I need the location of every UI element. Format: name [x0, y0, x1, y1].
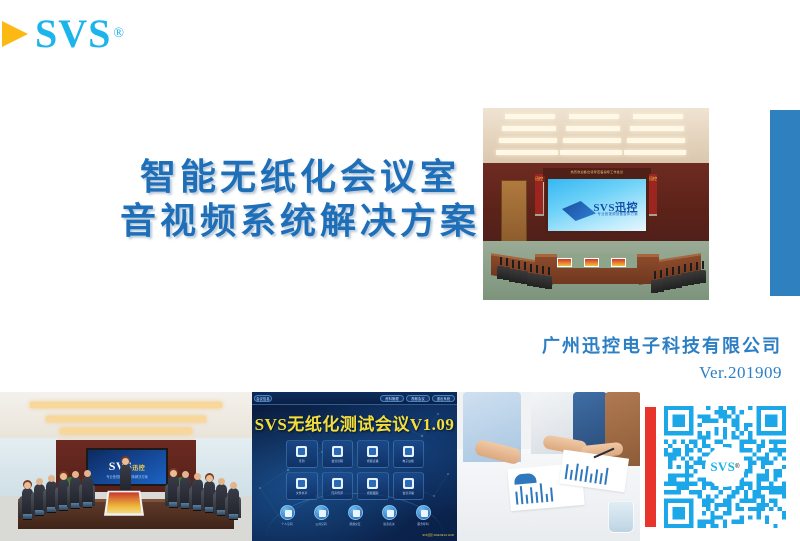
table-document	[584, 258, 599, 267]
microphone	[702, 261, 704, 269]
version-label: Ver.201909	[699, 363, 782, 383]
microphone	[672, 267, 674, 275]
software-topbar: 会议信息资料管理视频会议退出系统	[252, 392, 457, 405]
attendee	[82, 476, 93, 502]
camera-icon	[367, 478, 378, 489]
software-title: SVS无纸化测试会议V1.09	[252, 410, 457, 435]
ceiling-light	[496, 150, 558, 155]
dock-item-label: 公共空间	[308, 522, 334, 526]
terminal-monitor	[23, 514, 32, 520]
microphone	[524, 262, 526, 270]
table-document	[104, 491, 144, 516]
function-tile[interactable]: 视频跟踪	[357, 472, 389, 500]
function-tile-label: 文件共享	[296, 491, 308, 495]
business-discussion-photo	[457, 392, 640, 541]
ceiling-light	[560, 150, 622, 155]
function-tile-label: 视频跟踪	[367, 491, 379, 495]
dock-item[interactable]: 投票表决	[376, 505, 402, 526]
ceiling-light	[633, 114, 683, 119]
right-accent-bar	[770, 110, 800, 296]
microphone	[678, 266, 680, 274]
red-accent-bar	[645, 407, 656, 527]
dock-item-label: 视频交互	[342, 522, 368, 526]
software-topbar-pill[interactable]: 退出系统	[432, 395, 455, 402]
function-tile-label: 签到	[299, 459, 305, 463]
cove-light	[46, 416, 206, 422]
record-icon	[403, 478, 414, 489]
dock-item-label: 服务呼叫	[410, 522, 436, 526]
conference-room-photo: SVS迅控 专业音视频设备整体解决方案	[0, 392, 252, 541]
attendee	[228, 488, 239, 514]
microphone	[548, 267, 550, 275]
software-timestamp: SVS迅控 2019-09-01 10:26	[422, 534, 454, 537]
table-document	[611, 258, 626, 267]
screen-subtitle: 专业音视频设备整体方案	[597, 211, 638, 216]
software-topbar-pill[interactable]: 会议信息	[254, 395, 272, 402]
hero-conference-room-image: 热烈欢迎各位领导莅临指导工作会议 迅控 迅控 SVS迅控 专业音视频设备整体方案…	[483, 108, 709, 300]
table-document	[557, 258, 572, 267]
terminal-monitor	[229, 514, 238, 520]
chair	[699, 270, 706, 283]
registered-trademark-icon: ®	[113, 26, 124, 42]
function-tile[interactable]: 会议录播	[393, 472, 425, 500]
function-tile-label: 会议议程	[331, 459, 343, 463]
brand-logo-text: SVS	[35, 14, 111, 54]
bell-icon	[416, 505, 431, 520]
ceiling-light	[566, 126, 620, 131]
paperless-meeting-software: 会议信息资料管理视频会议退出系统 SVS无纸化测试会议V1.09 签到会议议程视…	[252, 392, 457, 541]
function-tile-label: 视频点播	[367, 459, 379, 463]
function-tile-label: 同声传译	[331, 491, 343, 495]
clipboard-icon	[296, 446, 307, 457]
function-tile[interactable]: 签到	[286, 440, 318, 468]
microphone	[690, 263, 692, 271]
bottom-image-strip: SVS迅控 专业音视频设备整体解决方案	[0, 392, 800, 541]
side-banner-right: 迅控	[649, 174, 657, 214]
dock-item[interactable]: 视频交互	[342, 505, 368, 526]
water-glass	[608, 501, 634, 533]
dock-item-label: 投票表决	[376, 522, 402, 526]
ceiling-light	[627, 138, 685, 143]
cove-light	[30, 402, 222, 408]
ceiling-light	[499, 138, 557, 143]
play-triangle-icon	[2, 21, 28, 47]
speaker	[120, 464, 131, 490]
function-tile[interactable]: 会议议程	[322, 440, 354, 468]
terminal-monitor	[83, 502, 92, 508]
chair	[545, 276, 552, 289]
function-tile-grid: 签到会议议程视频点播电子白板文件共享同声传译视频跟踪会议录播	[286, 440, 424, 500]
microphone	[684, 264, 686, 272]
ceiling-light	[563, 138, 621, 143]
microphone	[506, 258, 508, 266]
ceiling-light	[502, 126, 556, 131]
microphone	[518, 261, 520, 269]
software-dock: 个人空间公共空间视频交互投票表决服务呼叫	[274, 505, 436, 533]
ceiling-light	[624, 150, 686, 155]
video-icon	[348, 505, 363, 520]
dock-item[interactable]: 公共空间	[308, 505, 334, 526]
cove-light	[60, 428, 192, 434]
microphone	[512, 260, 514, 268]
dock-item[interactable]: 服务呼叫	[410, 505, 436, 526]
function-tile[interactable]: 同声传译	[322, 472, 354, 500]
microphone	[536, 265, 538, 273]
brand-logo: SVS ®	[2, 14, 124, 54]
qr-center-logo: SVS®	[705, 447, 745, 487]
door	[501, 180, 527, 242]
qr-code[interactable]: SVS®	[664, 406, 786, 528]
bar-chart-icon	[565, 461, 623, 487]
folder-icon	[296, 478, 307, 489]
board-icon	[403, 446, 414, 457]
cloud-icon	[314, 505, 329, 520]
function-tile[interactable]: 电子白板	[393, 440, 425, 468]
function-tile-label: 会议录播	[402, 491, 414, 495]
monitor-icon	[367, 446, 378, 457]
screen-graphic	[562, 201, 596, 221]
ceiling-light	[630, 126, 684, 131]
ceiling-light	[569, 114, 619, 119]
microphone	[542, 266, 544, 274]
user-icon	[280, 505, 295, 520]
page-title: 智能无纸化会议室 音视频系统解决方案	[105, 155, 495, 243]
hero-led-screen: SVS迅控 专业音视频设备整体方案	[545, 176, 649, 234]
hero-banner-text: 热烈欢迎各位领导莅临指导工作会议	[543, 168, 651, 176]
microphone	[654, 271, 656, 279]
company-name: 广州迅控电子科技有限公司	[542, 332, 782, 358]
qr-center-sup: ®	[735, 464, 739, 470]
microphone	[660, 270, 662, 278]
dock-item[interactable]: 个人空间	[274, 505, 300, 526]
function-tile[interactable]: 视频点播	[357, 440, 389, 468]
microphone	[696, 262, 698, 270]
qr-code-block: SVS®	[640, 392, 800, 541]
microphone	[530, 264, 532, 272]
qr-center-text: SVS	[710, 459, 735, 475]
translate-icon	[332, 478, 343, 489]
microphone	[500, 257, 502, 265]
function-tile[interactable]: 文件共享	[286, 472, 318, 500]
title-line-2: 音视频系统解决方案	[105, 199, 495, 243]
side-banner-left: 迅控	[535, 174, 543, 214]
title-line-1: 智能无纸化会议室	[105, 155, 495, 199]
function-tile-label: 电子白板	[402, 459, 414, 463]
software-topbar-pill[interactable]: 资料管理	[380, 395, 404, 402]
dock-item-label: 个人空间	[274, 522, 300, 526]
software-topbar-pill[interactable]: 视频会议	[406, 395, 430, 402]
microphone	[666, 268, 668, 276]
screen-logo-sup: 迅控	[132, 466, 145, 472]
document-icon	[332, 446, 343, 457]
vote-icon	[382, 505, 397, 520]
ceiling-light	[505, 114, 555, 119]
